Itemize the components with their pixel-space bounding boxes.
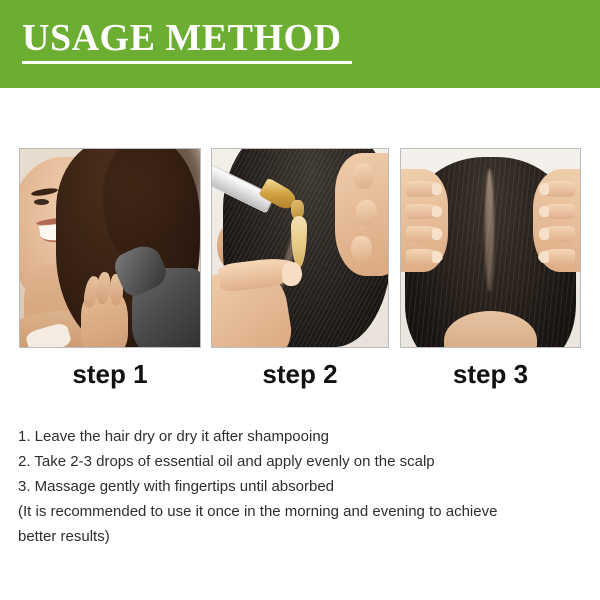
photo3-fingernail [432, 183, 442, 194]
photo3-left-hand [401, 169, 448, 272]
photo3-right-hand [533, 169, 580, 272]
step-caption-1: step 1 [19, 358, 201, 390]
step-caption-2: step 2 [211, 358, 389, 390]
instruction-line-1: 1. Leave the hair dry or dry it after sh… [18, 424, 584, 449]
photo3-finger [406, 204, 443, 219]
instruction-line-2: 2. Take 2-3 drops of essential oil and a… [18, 449, 584, 474]
header-banner: USAGE METHOD [0, 0, 600, 88]
step-caption-3: step 3 [400, 358, 581, 390]
instruction-note-line-1: (It is recommended to use it once in the… [18, 499, 584, 524]
photo3-fingernail [539, 183, 549, 194]
photo3-hair-parting [485, 169, 494, 292]
instruction-note-line-2: better results) [18, 524, 584, 549]
photo3-fingernail [432, 228, 442, 239]
step-captions-row: step 1 step 2 step 3 [0, 358, 600, 394]
photo3-finger [406, 249, 443, 264]
page-title: USAGE METHOD [22, 18, 342, 58]
photo2-fingertip [351, 236, 372, 262]
step-image-1 [19, 148, 201, 348]
instruction-line-3: 3. Massage gently with fingertips until … [18, 474, 584, 499]
photo3-finger [538, 249, 575, 264]
photo3-fingernail [539, 206, 549, 217]
title-underline [22, 61, 352, 64]
photo3-finger [538, 204, 575, 219]
step-image-2 [211, 148, 389, 348]
photo3-finger [406, 226, 443, 241]
photo2-fingernail [282, 262, 301, 286]
usage-method-page: USAGE METHOD [0, 0, 600, 600]
photo3-finger [538, 226, 575, 241]
photo-woman-hairdryer [20, 149, 200, 347]
photo-dropper-oil-scalp [212, 149, 388, 347]
photo3-fingernail [432, 206, 442, 217]
photo3-finger [406, 181, 443, 196]
step-image-3 [400, 148, 581, 348]
photo-scalp-massage [401, 149, 580, 347]
step-images-row [0, 148, 600, 348]
photo3-fingernail [539, 228, 549, 239]
photo3-fingernail [539, 251, 549, 262]
photo3-finger [538, 181, 575, 196]
photo3-fingernail [432, 251, 442, 262]
photo2-fingertip [353, 163, 374, 189]
instructions-block: 1. Leave the hair dry or dry it after sh… [18, 424, 584, 549]
